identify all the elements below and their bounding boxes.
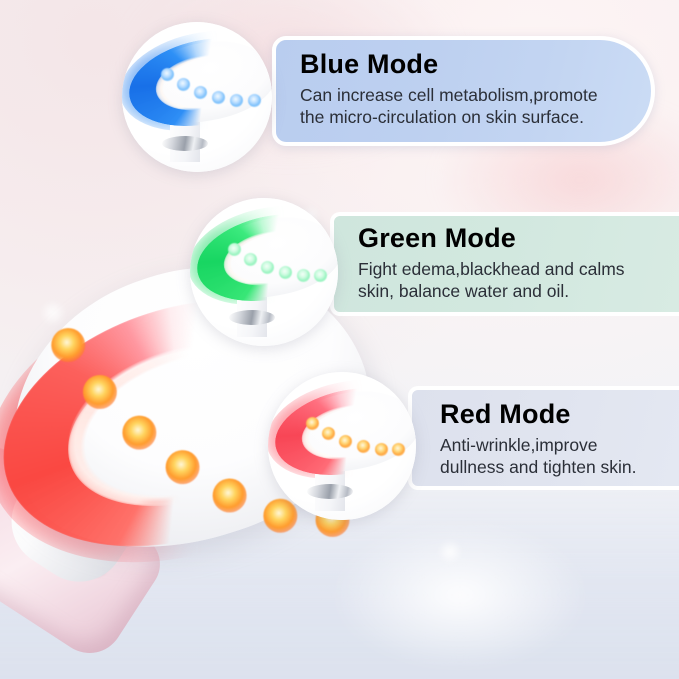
device-led: [297, 269, 310, 282]
green-mode-description: Fight edema,blackhead and calms skin, ba…: [358, 258, 678, 302]
bokeh-dot: [438, 540, 462, 564]
device-led: [306, 417, 319, 430]
device-led: [261, 261, 274, 274]
device-led: [228, 243, 241, 256]
device-led: [375, 443, 388, 456]
device-led: [357, 440, 370, 453]
green-mode-text: Green Mode Fight edema,blackhead and cal…: [358, 224, 678, 302]
product-infographic: EAN Blue Mode Can increase cell metaboli…: [0, 0, 679, 679]
red-mode-title: Red Mode: [440, 400, 679, 430]
red-mode-text: Red Mode Anti-wrinkle,improve dullness a…: [440, 400, 679, 478]
green-mode-title: Green Mode: [358, 224, 678, 254]
device-led: [392, 443, 405, 456]
device-led: [248, 94, 261, 107]
blue-mode-product-photo: [122, 22, 272, 172]
device-chrome-ring: [307, 484, 353, 499]
red-mode-product-photo: [268, 372, 416, 520]
device-led: [322, 427, 335, 440]
blue-mode-text: Blue Mode Can increase cell metabolism,p…: [300, 50, 640, 128]
device-led: [230, 94, 243, 107]
blue-mode-title: Blue Mode: [300, 50, 640, 80]
blue-mode-description: Can increase cell metabolism,promote the…: [300, 84, 640, 128]
red-mode-description: Anti-wrinkle,improve dullness and tighte…: [440, 434, 679, 478]
device-chrome-ring: [162, 136, 208, 151]
device-led: [212, 91, 225, 104]
device-led: [279, 266, 292, 279]
device-led: [161, 68, 174, 81]
device-led: [314, 269, 327, 282]
device-led: [177, 78, 190, 91]
green-mode-product-photo: [190, 198, 338, 346]
device-led: [194, 86, 207, 99]
device-chrome-ring: [229, 310, 275, 325]
device-led: [244, 253, 257, 266]
device-led: [339, 435, 352, 448]
